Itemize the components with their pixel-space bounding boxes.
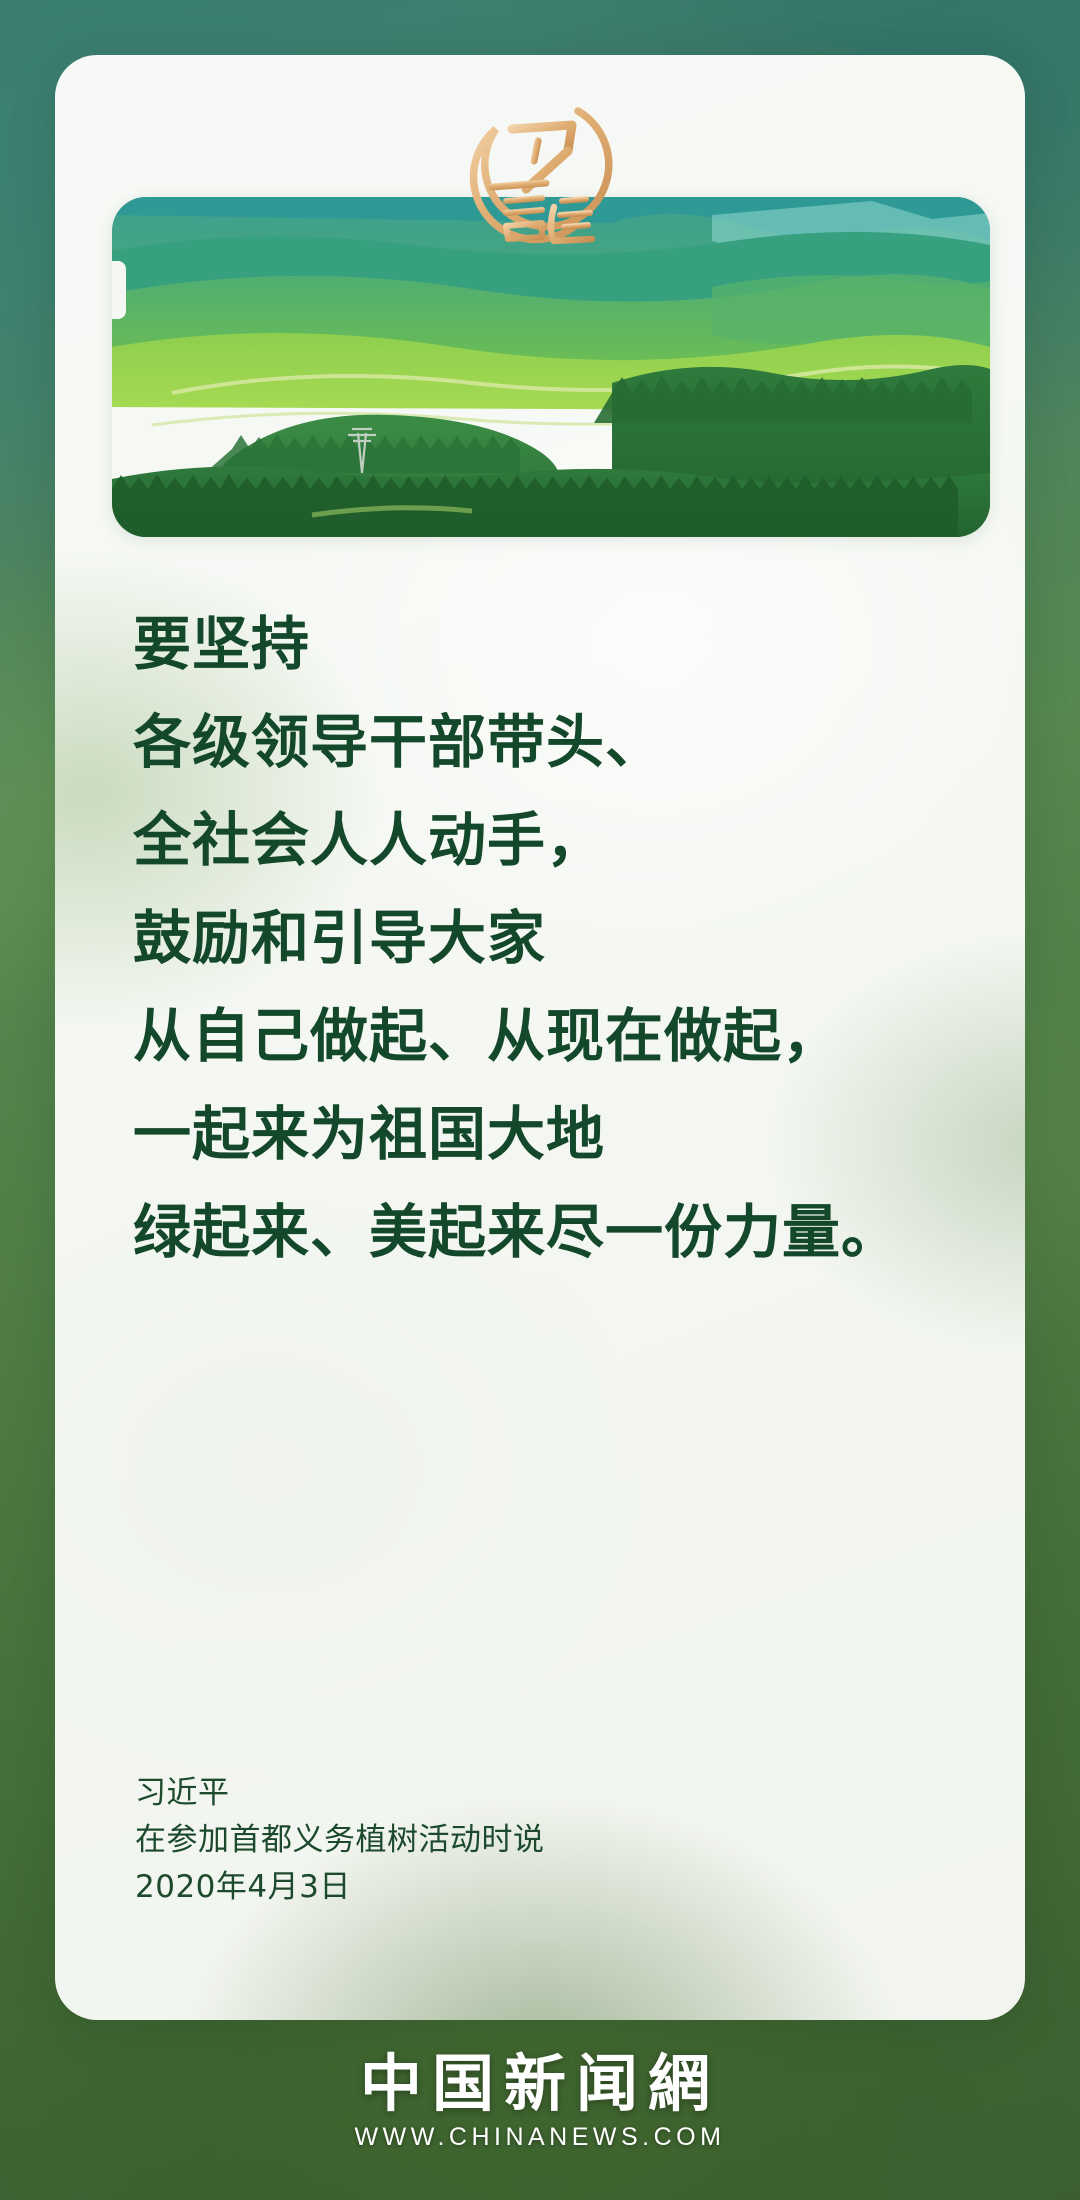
quote-line-3: 全社会人人动手， <box>133 791 973 889</box>
quote-line-7: 绿起来、美起来尽一份力量。 <box>133 1183 973 1281</box>
photo-edge-notch <box>112 261 126 319</box>
brand-seal <box>55 77 1025 257</box>
quote-line-6: 一起来为祖国大地 <box>133 1085 973 1183</box>
chinanews-logo-text: 中国新闻網 <box>360 2052 720 2115</box>
chinanews-url: WWW.CHINANEWS.COM <box>355 2123 726 2152</box>
footer-branding: 中国新闻網 WWW.CHINANEWS.COM <box>0 2052 1080 2152</box>
xi-yan-dao-seal-icon <box>450 77 630 257</box>
quote-line-2: 各级领导干部带头、 <box>133 693 973 791</box>
attribution-block: 习近平 在参加首都义务植树活动时说 2020年4月3日 <box>135 1770 545 1911</box>
attribution-occasion: 在参加首都义务植树活动时说 <box>135 1817 545 1864</box>
quote-block: 要坚持 各级领导干部带头、 全社会人人动手， 鼓励和引导大家 从自己做起、从现在… <box>133 595 973 1281</box>
content-card: 要坚持 各级领导干部带头、 全社会人人动手， 鼓励和引导大家 从自己做起、从现在… <box>55 55 1025 2020</box>
attribution-speaker: 习近平 <box>135 1770 545 1817</box>
quote-line-4: 鼓励和引导大家 <box>133 889 973 987</box>
attribution-date: 2020年4月3日 <box>135 1864 545 1911</box>
quote-line-1: 要坚持 <box>133 595 973 693</box>
poster-root: 要坚持 各级领导干部带头、 全社会人人动手， 鼓励和引导大家 从自己做起、从现在… <box>0 0 1080 2200</box>
quote-line-5: 从自己做起、从现在做起， <box>133 987 973 1085</box>
